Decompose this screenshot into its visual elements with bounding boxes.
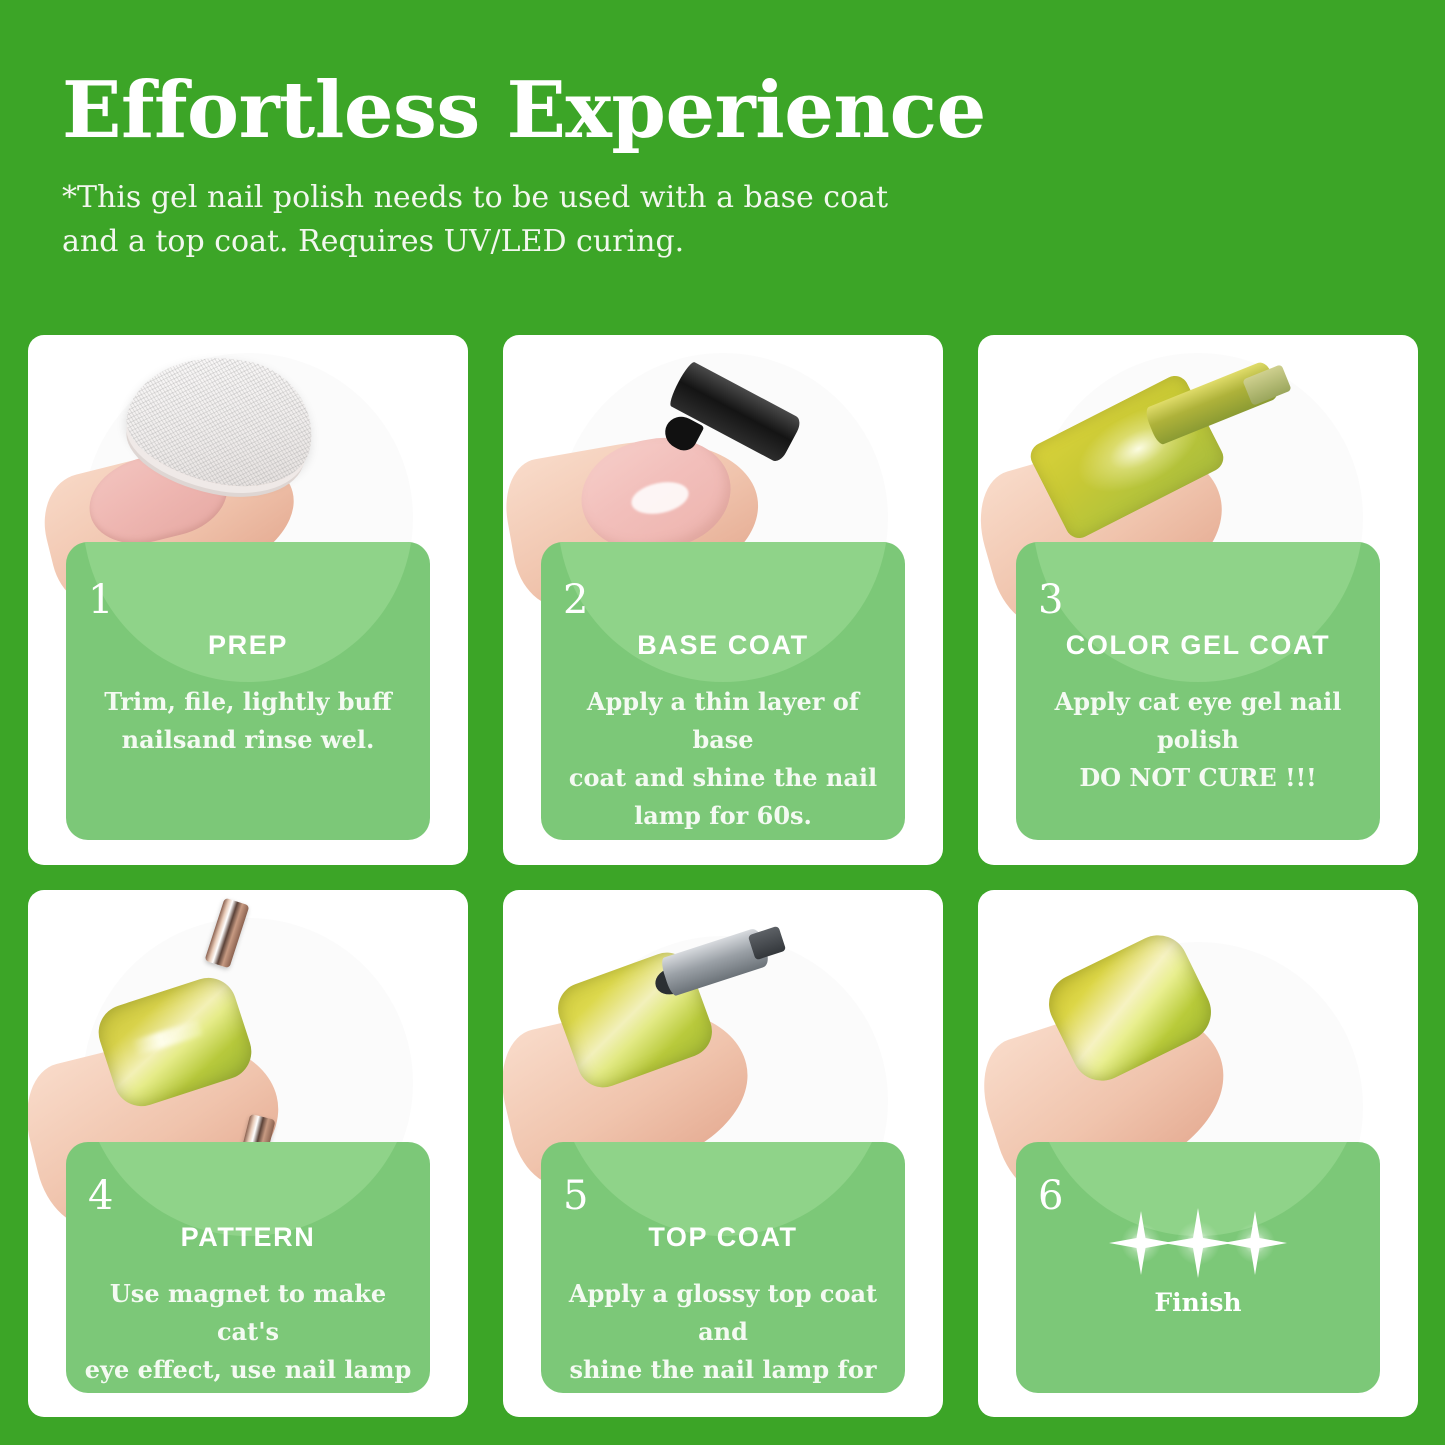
step-number: 3 — [1038, 580, 1063, 620]
step-heading: PREP — [82, 630, 414, 661]
step-number: 1 — [88, 580, 113, 620]
step-4-content: PATTERN Use magnet to make cat's eye eff… — [82, 1222, 414, 1393]
header: Effortless Experience *This gel nail pol… — [62, 72, 1262, 264]
step-number: 6 — [1038, 1176, 1063, 1216]
step-6-panel: 6 — [1016, 1142, 1380, 1393]
step-heading: PATTERN — [82, 1222, 414, 1253]
step-3-content: COLOR GEL COAT Apply cat eye gel nail po… — [1032, 630, 1364, 797]
step-number: 2 — [563, 580, 588, 620]
step-card-2: 2 BASE COAT Apply a thin layer of base c… — [503, 335, 943, 865]
step-body: Finish — [1032, 1288, 1364, 1317]
step-body: Use magnet to make cat's eye effect, use… — [82, 1275, 414, 1393]
step-3-panel: 3 COLOR GEL COAT Apply cat eye gel nail … — [1016, 542, 1380, 840]
step-6-content: Finish — [1032, 1202, 1364, 1317]
step-heading: TOP COAT — [557, 1222, 889, 1253]
step-number: 5 — [563, 1176, 588, 1216]
step-body: Apply cat eye gel nail polish DO NOT CUR… — [1032, 683, 1364, 797]
step-card-4: 4 PATTERN Use magnet to make cat's eye e… — [28, 890, 468, 1417]
step-5-panel: 5 TOP COAT Apply a glossy top coat and s… — [541, 1142, 905, 1393]
step-number: 4 — [88, 1176, 113, 1216]
step-body: Trim, file, lightly buff nailsand rinse … — [82, 683, 414, 759]
step-body: Apply a thin layer of base coat and shin… — [557, 683, 889, 835]
step-card-3: 3 COLOR GEL COAT Apply cat eye gel nail … — [978, 335, 1418, 865]
page-subtitle: *This gel nail polish needs to be used w… — [62, 176, 1262, 264]
step-body: Apply a glossy top coat and shine the na… — [557, 1275, 889, 1393]
step-5-content: TOP COAT Apply a glossy top coat and shi… — [557, 1222, 889, 1393]
magnet-bar-icon — [204, 898, 249, 969]
step-1-content: PREP Trim, file, lightly buff nailsand r… — [82, 630, 414, 759]
step-heading: COLOR GEL COAT — [1032, 630, 1364, 661]
step-4-panel: 4 PATTERN Use magnet to make cat's eye e… — [66, 1142, 430, 1393]
page-title: Effortless Experience — [62, 72, 1262, 150]
step-card-6: 6 — [978, 890, 1418, 1417]
step-1-panel: 1 PREP Trim, file, lightly buff nailsand… — [66, 542, 430, 840]
step-2-content: BASE COAT Apply a thin layer of base coa… — [557, 630, 889, 835]
step-card-1: 1 PREP Trim, file, lightly buff nailsand… — [28, 335, 468, 865]
step-card-5: 5 TOP COAT Apply a glossy top coat and s… — [503, 890, 943, 1417]
step-heading: BASE COAT — [557, 630, 889, 661]
step-2-panel: 2 BASE COAT Apply a thin layer of base c… — [541, 542, 905, 840]
steps-grid: 1 PREP Trim, file, lightly buff nailsand… — [28, 335, 1418, 1417]
